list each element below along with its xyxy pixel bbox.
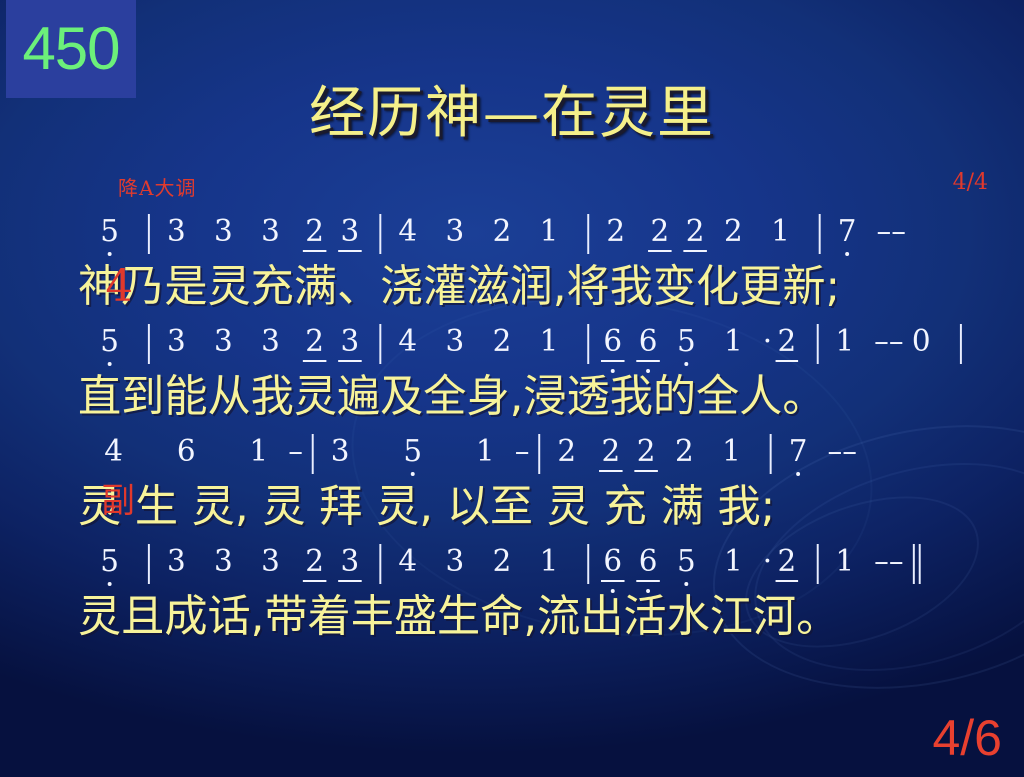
note-digit: 7 [789, 437, 808, 467]
note-digit: 2 [724, 217, 743, 247]
note: 1 [716, 327, 751, 366]
note-digit: 3 [214, 217, 233, 247]
note: 3 [437, 547, 472, 586]
music-score: 5333234321222217––4神乃是灵充满、浇灌滋润,将我变化更新;53… [0, 208, 1024, 648]
dotted-rhythm-dot: · [763, 327, 772, 366]
hold-dash: – [891, 217, 906, 256]
note-digit: 5 [100, 217, 119, 247]
score-line: 53332343216651·21––灵且成话,带着丰盛生命,流出活水江河。 [0, 538, 1024, 648]
note: 5 [92, 547, 127, 586]
note-digit: 6 [603, 547, 622, 577]
note: 3 [159, 217, 194, 256]
key-signature: 降A大调 [118, 172, 196, 201]
bar-line [379, 544, 381, 584]
notation-row: 53332343216651·21–– [0, 538, 1024, 586]
note-digit: 3 [445, 217, 464, 247]
note-digit: 6 [177, 437, 196, 467]
lyric-text: 直到能从我灵遍及全身,浸透我的全人。 [78, 371, 826, 422]
note: 2 [300, 327, 329, 366]
bar-line [538, 434, 540, 474]
note: 1 [763, 217, 798, 256]
note-digit: 1 [771, 217, 790, 247]
note-digit: 2 [675, 437, 694, 467]
note: 3 [206, 327, 241, 366]
note: 1 [714, 437, 749, 476]
lyric-row: 副灵 生 灵, 灵 拜 灵, 以至 灵 充 满 我; [0, 476, 1024, 538]
note: 5 [395, 437, 430, 476]
note-digit: 1 [724, 327, 743, 357]
note: 3 [206, 217, 241, 256]
bar-line [148, 214, 150, 254]
note-digit: 6 [639, 327, 658, 357]
note-digit: 5 [403, 437, 422, 467]
bar-line [587, 544, 589, 584]
note-digit: 3 [261, 327, 280, 357]
hold-dash: – [515, 437, 530, 476]
note: 2 [549, 437, 584, 476]
note: 3 [437, 327, 472, 366]
hold-dash: – [874, 327, 889, 366]
note-digit: 1 [249, 437, 268, 467]
note-digit: 6 [603, 327, 622, 357]
note: 3 [335, 217, 364, 256]
note: 6 [598, 547, 627, 586]
note: 3 [335, 327, 364, 366]
note-digit: 3 [167, 547, 186, 577]
bar-line [770, 434, 772, 474]
note: 3 [253, 327, 288, 366]
note: 2 [772, 547, 801, 586]
note: 3 [159, 547, 194, 586]
hold-dash: – [877, 217, 892, 256]
note-digit: 2 [305, 217, 324, 247]
note: 4 [390, 217, 425, 256]
hold-dash: – [842, 437, 857, 476]
note-digit: 0 [912, 327, 931, 357]
note-digit: 3 [341, 327, 360, 357]
note: 2 [300, 217, 329, 256]
note-digit: 7 [838, 217, 857, 247]
bar-line [587, 324, 589, 364]
note: 2 [596, 437, 625, 476]
note-digit: 3 [214, 547, 233, 577]
notation-row: 5333234321222217–– [0, 208, 1024, 256]
score-line: 53332343216651·21––0直到能从我灵遍及全身,浸透我的全人。 [0, 318, 1024, 428]
bar-line [148, 324, 150, 364]
note: 1 [531, 327, 566, 366]
note-digit: 1 [835, 547, 854, 577]
dotted-rhythm-dot: · [763, 547, 772, 586]
note-digit: 3 [331, 437, 350, 467]
note-digit: 3 [445, 547, 464, 577]
note-digit: 3 [167, 327, 186, 357]
note: 2 [484, 327, 519, 366]
note: 7 [829, 217, 864, 256]
note: 2 [716, 217, 751, 256]
hymn-number-badge: 450 [6, 0, 136, 98]
note-digit: 3 [261, 217, 280, 247]
note-digit: 2 [493, 217, 512, 247]
note-digit: 1 [722, 437, 741, 467]
notation-row: 461–351–222217–– [0, 428, 1024, 476]
note-digit: 2 [601, 437, 620, 467]
note: 3 [159, 327, 194, 366]
note: 3 [253, 217, 288, 256]
note-digit: 3 [341, 547, 360, 577]
hold-dash: – [889, 327, 904, 366]
note-digit: 5 [677, 327, 696, 357]
note-digit: 4 [398, 327, 417, 357]
note: 2 [598, 217, 633, 256]
note-digit: 2 [493, 327, 512, 357]
stanza-number-marker: 4 [105, 264, 132, 310]
hymn-title: 经历神—在灵里 [0, 86, 1024, 142]
note-digit: 3 [167, 217, 186, 247]
hymn-number: 450 [22, 19, 119, 79]
bar-line [587, 214, 589, 254]
note-digit: 5 [677, 547, 696, 577]
hold-dash: – [889, 547, 904, 586]
page-indicator: 4/6 [932, 713, 1002, 763]
note: 2 [772, 327, 801, 366]
note: 1 [468, 437, 503, 476]
note: 1 [531, 217, 566, 256]
note: 2 [667, 437, 702, 476]
note: 4 [96, 437, 131, 476]
note: 3 [323, 437, 358, 476]
note: 3 [335, 547, 364, 586]
lyric-row: 直到能从我灵遍及全身,浸透我的全人。 [0, 366, 1024, 428]
note-digit: 5 [100, 547, 119, 577]
note-digit: 5 [100, 327, 119, 357]
bar-line [379, 324, 381, 364]
note-digit: 1 [835, 327, 854, 357]
note-digit: 3 [341, 217, 360, 247]
note: 2 [645, 217, 674, 256]
note-digit: 3 [214, 327, 233, 357]
note-digit: 1 [476, 437, 495, 467]
note: 5 [92, 327, 127, 366]
lyric-text: 神乃是灵充满、浇灌滋润,将我变化更新; [78, 261, 840, 312]
note: 3 [253, 547, 288, 586]
bar-line [819, 214, 821, 254]
note: 0 [904, 327, 939, 366]
note: 5 [92, 217, 127, 256]
bar-line [379, 214, 381, 254]
note: 6 [598, 327, 627, 366]
note-digit: 2 [493, 547, 512, 577]
note-digit: 4 [104, 437, 123, 467]
note-digit: 2 [686, 217, 705, 247]
note: 2 [484, 547, 519, 586]
note: 6 [169, 437, 204, 476]
note-digit: 4 [398, 547, 417, 577]
time-signature: 4/4 [953, 170, 988, 195]
note: 2 [631, 437, 660, 476]
note: 4 [390, 547, 425, 586]
note: 5 [669, 547, 704, 586]
note-digit: 1 [540, 327, 559, 357]
chorus-marker: 副 [102, 484, 135, 519]
note: 2 [484, 217, 519, 256]
notation-row: 53332343216651·21––0 [0, 318, 1024, 366]
hold-dash: – [874, 547, 889, 586]
double-bar-line [912, 544, 920, 584]
note: 1 [827, 547, 862, 586]
bar-line [312, 434, 314, 474]
note: 6 [633, 327, 662, 366]
note-digit: 1 [724, 547, 743, 577]
note: 2 [680, 217, 709, 256]
note-digit: 1 [540, 217, 559, 247]
lyric-row: 4神乃是灵充满、浇灌滋润,将我变化更新; [0, 256, 1024, 318]
note: 2 [300, 547, 329, 586]
score-line: 5333234321222217––4神乃是灵充满、浇灌滋润,将我变化更新; [0, 208, 1024, 318]
note-digit: 2 [637, 437, 656, 467]
note-digit: 1 [540, 547, 559, 577]
note: 5 [669, 327, 704, 366]
note-digit: 2 [778, 327, 797, 357]
bar-line [816, 324, 818, 364]
note: 3 [437, 217, 472, 256]
score-line: 461–351–222217––副灵 生 灵, 灵 拜 灵, 以至 灵 充 满 … [0, 428, 1024, 538]
note: 1 [241, 437, 276, 476]
note-digit: 3 [445, 327, 464, 357]
hold-dash: – [288, 437, 303, 476]
note: 1 [827, 327, 862, 366]
note-digit: 2 [557, 437, 576, 467]
note: 1 [531, 547, 566, 586]
note-digit: 3 [261, 547, 280, 577]
note-digit: 6 [639, 547, 658, 577]
bar-line [959, 324, 961, 364]
note-digit: 2 [650, 217, 669, 247]
lyric-row: 灵且成话,带着丰盛生命,流出活水江河。 [0, 586, 1024, 648]
note: 4 [390, 327, 425, 366]
bar-line [148, 544, 150, 584]
lyric-text: 灵且成话,带着丰盛生命,流出活水江河。 [78, 591, 839, 642]
note-digit: 2 [606, 217, 625, 247]
note: 1 [716, 547, 751, 586]
note-digit: 2 [305, 547, 324, 577]
lyric-text: 灵 生 灵, 灵 拜 灵, 以至 灵 充 满 我; [78, 481, 775, 532]
bar-line [816, 544, 818, 584]
note: 7 [780, 437, 815, 476]
note: 3 [206, 547, 241, 586]
hymn-slide: 450 经历神—在灵里 降A大调 4/4 5333234321222217––4… [0, 0, 1024, 777]
note-digit: 2 [778, 547, 797, 577]
note-digit: 2 [305, 327, 324, 357]
hold-dash: – [828, 437, 843, 476]
note: 6 [633, 547, 662, 586]
note-digit: 4 [398, 217, 417, 247]
